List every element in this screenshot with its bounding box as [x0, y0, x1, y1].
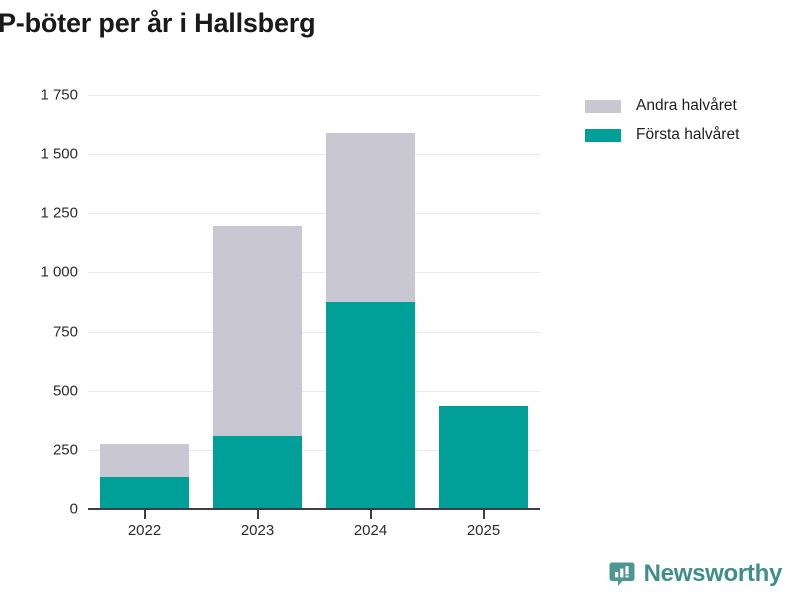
chart-legend: Andra halvåretFörsta halvåret	[585, 93, 739, 151]
y-tick-label: 250	[6, 441, 78, 458]
newsworthy-logo: Newsworthy	[609, 560, 782, 588]
x-tick-label: 2025	[467, 522, 500, 539]
bar-segment[interactable]	[326, 133, 415, 302]
x-tick-label: 2023	[241, 522, 274, 539]
brand-name: Newsworthy	[644, 560, 782, 588]
bar-stack[interactable]	[100, 95, 189, 509]
x-tick-mark	[483, 510, 485, 519]
y-tick-label: 0	[6, 501, 78, 518]
bar-segment[interactable]	[100, 444, 189, 477]
bar-segment[interactable]	[213, 226, 302, 436]
legend-swatch	[585, 100, 621, 113]
legend-label: Andra halvåret	[636, 97, 737, 115]
x-tick-mark	[144, 510, 146, 519]
bar-stack[interactable]	[439, 95, 528, 509]
chart-title: P-böter per år i Hallsberg	[0, 8, 315, 39]
x-tick-label: 2024	[354, 522, 387, 539]
y-tick-label: 1 000	[6, 264, 78, 281]
legend-item[interactable]: Andra halvåret	[585, 93, 739, 119]
plot-area	[88, 95, 540, 509]
legend-swatch	[585, 129, 621, 142]
y-tick-label: 1 750	[6, 87, 78, 104]
x-axis: 2022202320242025	[88, 510, 540, 550]
y-tick-label: 1 500	[6, 146, 78, 163]
bar-segment[interactable]	[100, 477, 189, 509]
x-tick-label: 2022	[128, 522, 161, 539]
bar-stack[interactable]	[213, 95, 302, 509]
x-tick-mark	[370, 510, 372, 519]
bar-segment[interactable]	[326, 302, 415, 509]
bar-chart-speech-bubble-icon	[609, 561, 635, 587]
y-tick-label: 500	[6, 382, 78, 399]
y-tick-label: 1 250	[6, 205, 78, 222]
bar-stack[interactable]	[326, 95, 415, 509]
legend-item[interactable]: Första halvåret	[585, 122, 739, 148]
bar-segment[interactable]	[213, 436, 302, 509]
y-tick-label: 750	[6, 323, 78, 340]
legend-label: Första halvåret	[636, 126, 739, 144]
y-axis: 02505007501 0001 2501 5001 750	[0, 95, 78, 509]
x-tick-mark	[257, 510, 259, 519]
bar-segment[interactable]	[439, 406, 528, 509]
